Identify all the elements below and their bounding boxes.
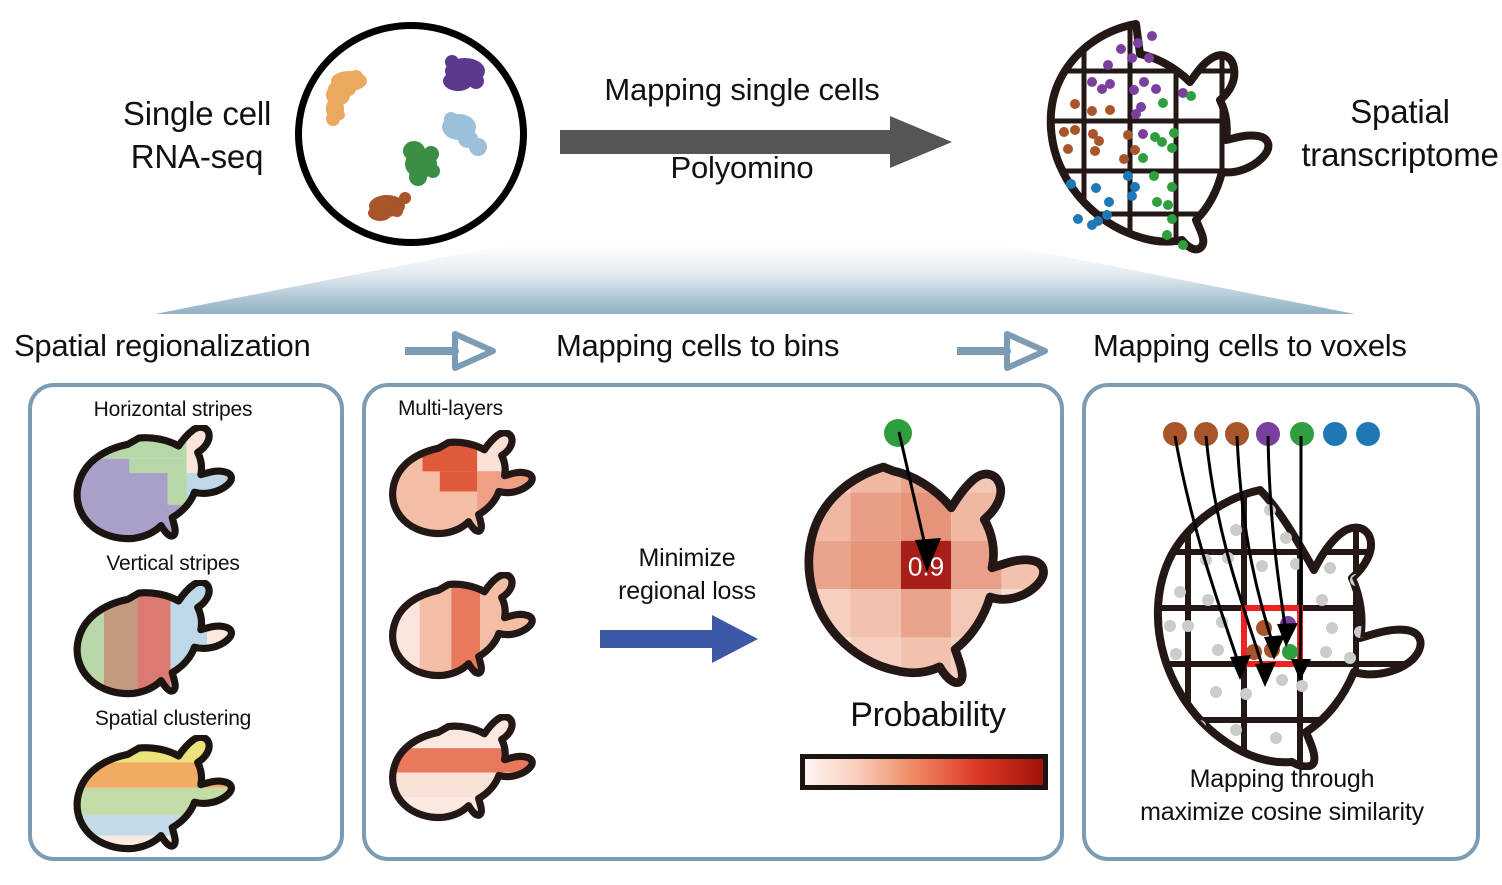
umap-cluster-lightblue	[442, 112, 487, 156]
minimize-label: Minimize regional loss	[592, 542, 782, 608]
fish-horizontal-stripes	[72, 425, 282, 545]
stage-arrow-1-icon	[405, 330, 497, 377]
fish-vertical-stripes	[72, 580, 282, 700]
umap-cluster-purple	[443, 55, 485, 91]
label-multi-layers: Multi-layers	[398, 397, 618, 421]
stage-header-bins: Mapping cells to bins	[556, 328, 839, 364]
label-spatial-clustering: Spatial clustering	[28, 707, 318, 731]
top-row: Single cell RNA-seq	[0, 0, 1502, 250]
voxel-cell-dot-row	[1163, 422, 1383, 448]
voxel-cell-dot-6	[1323, 422, 1347, 446]
mapping-arrow-block: Mapping single cells Polyomino	[556, 72, 956, 202]
stage-arrow-2-icon	[957, 330, 1049, 377]
umap-cluster-green	[403, 141, 440, 186]
stage-header-voxels: Mapping cells to voxels	[1093, 328, 1407, 364]
voxel-cell-dot-3	[1225, 422, 1249, 446]
funnel-connector	[155, 246, 1355, 318]
spatial-transcriptome-label: Spatial transcriptome	[1300, 90, 1500, 176]
voxel-cell-dot-4	[1256, 422, 1280, 446]
minimize-arrow-icon	[600, 615, 758, 668]
voxel-cell-dot-5	[1290, 422, 1314, 446]
minimize-label-line2: regional loss	[592, 575, 782, 608]
spatial-label-line1: Spatial	[1300, 90, 1500, 133]
probability-title: Probability	[800, 696, 1056, 735]
minimize-label-line1: Minimize	[592, 542, 782, 575]
probability-colorbar	[800, 754, 1048, 790]
mapping-arrow-bottom-label: Polyomino	[556, 150, 928, 186]
voxel-caption: Mapping through maximize cosine similari…	[1094, 763, 1470, 829]
fish-spatial-clustering	[72, 735, 282, 855]
fish-layer-2	[388, 572, 578, 682]
spatial-transcriptome-shape	[1040, 6, 1304, 254]
umap-clusters	[302, 29, 520, 239]
label-vertical-stripes: Vertical stripes	[28, 552, 318, 576]
voxel-cell-dot-2	[1194, 422, 1218, 446]
single-cell-label-line2: RNA-seq	[92, 135, 302, 178]
umap-cluster-orange	[326, 70, 367, 126]
spatial-label-line2: transcriptome	[1300, 133, 1500, 176]
fish-layer-3	[388, 714, 578, 824]
umap-circle	[295, 22, 527, 246]
minimize-regional-loss-block: Minimize regional loss	[592, 542, 782, 608]
voxel-cell-dot-7	[1356, 422, 1380, 446]
voxel-caption-line1: Mapping through	[1094, 763, 1470, 796]
single-cell-label-line1: Single cell	[92, 92, 302, 135]
voxel-grid-shape	[1140, 480, 1440, 770]
umap-cluster-brown	[368, 192, 411, 221]
stage-header-regionalization: Spatial regionalization	[14, 328, 310, 364]
label-horizontal-stripes: Horizontal stripes	[28, 398, 318, 422]
voxel-caption-line2: maximize cosine similarity	[1094, 796, 1470, 829]
probability-mapping-arrow-icon	[855, 428, 975, 593]
voxel-cell-dot-1	[1163, 422, 1187, 446]
single-cell-rnaseq-label: Single cell RNA-seq	[92, 92, 302, 178]
fish-layer-1	[388, 430, 578, 540]
mapping-arrow-top-label: Mapping single cells	[556, 72, 928, 108]
